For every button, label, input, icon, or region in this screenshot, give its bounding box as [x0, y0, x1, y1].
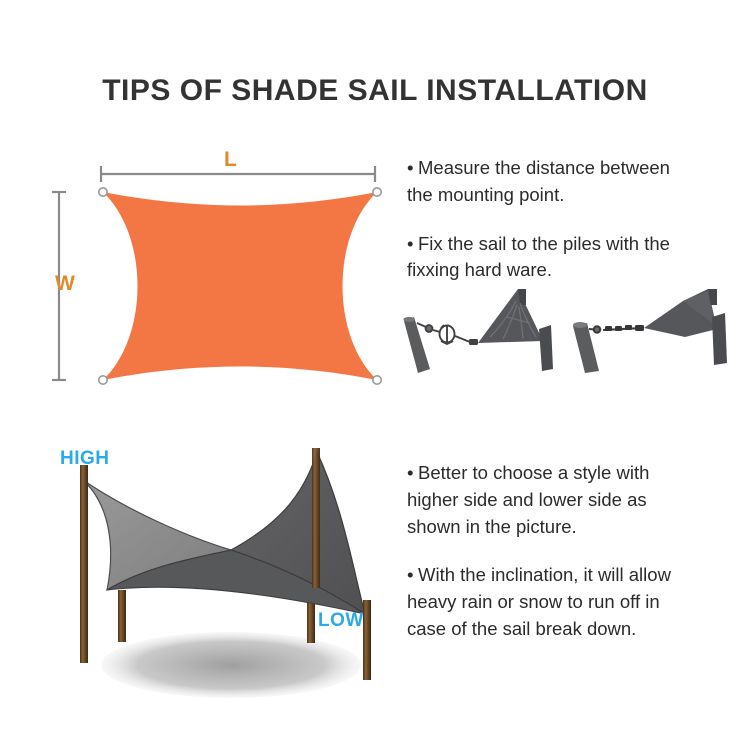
tips-list-top: •Measure the distance between the mounti… [407, 155, 750, 284]
mounting-pole-left [403, 317, 430, 373]
turnbuckle-chain-left [417, 323, 470, 344]
tip-text: Fix the sail to the piles with the [418, 233, 670, 254]
tip-line: higher side and lower side as [407, 487, 750, 514]
low-corner-label: LOW [318, 610, 364, 632]
tip-line: fixxing hard ware. [407, 257, 750, 284]
width-label: W [55, 272, 75, 296]
ground-shadow [101, 632, 361, 698]
tip-line: •Fix the sail to the piles with the [407, 231, 750, 258]
tip-paragraph: •Fix the sail to the piles with the fixx… [407, 231, 750, 285]
canopy-installation-diagram [35, 440, 425, 710]
tip-text: With the inclination, it will allow [418, 564, 671, 585]
grommet-top-left [99, 188, 107, 196]
post-high-right [312, 448, 320, 588]
tip-paragraph: •Measure the distance between the mounti… [407, 155, 750, 209]
tip-line: the mounting point. [407, 182, 750, 209]
tip-line: •Measure the distance between [407, 155, 750, 182]
tip-text: Better to choose a style with [418, 462, 649, 483]
shade-sail-dimension-diagram [45, 140, 395, 395]
bullet-icon: • [407, 231, 418, 258]
length-dimension-line [101, 166, 375, 182]
fixing-hardware-illustration-right [565, 283, 750, 373]
sail-corner-triangle-right [644, 289, 717, 337]
mounting-bracket-left [539, 325, 553, 371]
tip-paragraph: •With the inclination, it will allow hea… [407, 562, 750, 642]
tip-line: •Better to choose a style with [407, 460, 750, 487]
post-front-left [80, 465, 88, 663]
high-corner-label: HIGH [60, 448, 110, 470]
grommet-top-right [373, 188, 381, 196]
bullet-icon: • [407, 460, 418, 487]
post-front-right [363, 600, 371, 680]
fixing-hardware-illustration-left [400, 283, 580, 373]
tips-list-bottom: •Better to choose a style with higher si… [407, 460, 750, 643]
tip-line: case of the sail break down. [407, 616, 750, 643]
sail-corner-triangle-left [478, 289, 543, 343]
infographic-page: TIPS OF SHADE SAIL INSTALLATION [0, 0, 750, 750]
tip-paragraph: •Better to choose a style with higher si… [407, 460, 750, 540]
mounting-bracket-right [712, 313, 727, 365]
tip-line: •With the inclination, it will allow [407, 562, 750, 589]
bullet-icon: • [407, 155, 418, 182]
tip-line: shown in the picture. [407, 514, 750, 541]
grommet-bottom-right [373, 376, 381, 384]
tip-line: heavy rain or snow to run off in [407, 589, 750, 616]
hardware-plate-left [469, 339, 478, 345]
bullet-icon: • [407, 562, 418, 589]
tip-text: Measure the distance between [418, 157, 670, 178]
orange-sail-shape [103, 192, 377, 380]
grommet-bottom-left [99, 376, 107, 384]
length-label: L [224, 148, 237, 172]
post-rear-left [118, 590, 126, 642]
page-title: TIPS OF SHADE SAIL INSTALLATION [0, 74, 750, 108]
